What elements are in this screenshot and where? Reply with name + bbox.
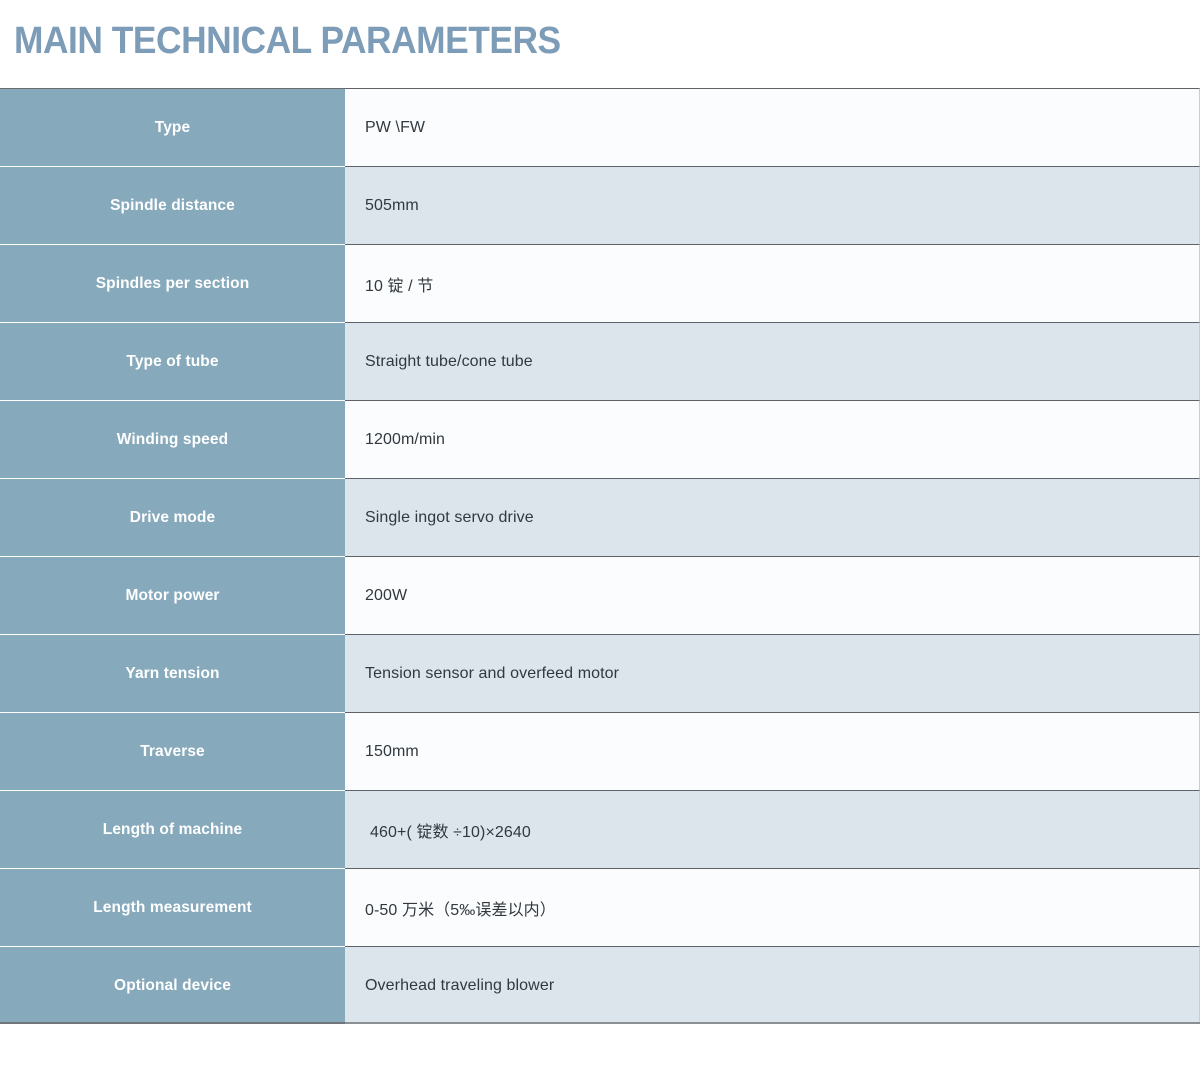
parameter-label-cell: Traverse (0, 712, 345, 790)
table-row: Spindles per section10 锭 / 节 (0, 244, 1200, 322)
parameter-label-cell: Length of machine (0, 790, 345, 868)
parameter-value-cell: 150mm (345, 712, 1200, 790)
table-row: Winding speed1200m/min (0, 400, 1200, 478)
parameter-value-cell: Single ingot servo drive (345, 478, 1200, 556)
parameter-value-cell: 10 锭 / 节 (345, 244, 1200, 322)
table-row: Traverse150mm (0, 712, 1200, 790)
parameter-value-cell: 460+( 锭数 ÷10)×2640 (345, 790, 1200, 868)
page-title: MAIN TECHNICAL PARAMETERS (14, 18, 561, 64)
parameter-value-cell: 505mm (345, 166, 1200, 244)
table-row: Drive modeSingle ingot servo drive (0, 478, 1200, 556)
table-row: Yarn tensionTension sensor and overfeed … (0, 634, 1200, 712)
parameter-label-cell: Motor power (0, 556, 345, 634)
table-row: Type of tubeStraight tube/cone tube (0, 322, 1200, 400)
parameter-label-cell: Drive mode (0, 478, 345, 556)
parameter-value-cell: 0-50 万米（5‰误差以内） (345, 868, 1200, 946)
parameter-label-cell: Winding speed (0, 400, 345, 478)
table-row: TypePW \FW (0, 88, 1200, 166)
parameter-value-cell: Overhead traveling blower (345, 946, 1200, 1024)
table-row: Motor power200W (0, 556, 1200, 634)
table-row: Optional deviceOverhead traveling blower (0, 946, 1200, 1024)
table-bottom-border-left (0, 1022, 345, 1024)
parameter-label-cell: Optional device (0, 946, 345, 1024)
parameter-label-cell: Yarn tension (0, 634, 345, 712)
parameter-label-cell: Type of tube (0, 322, 345, 400)
parameter-value-cell: 200W (345, 556, 1200, 634)
parameter-value-cell: Straight tube/cone tube (345, 322, 1200, 400)
parameter-label-cell: Spindles per section (0, 244, 345, 322)
technical-parameters-table: TypePW \FWSpindle distance505mmSpindles … (0, 88, 1200, 1024)
parameter-value-cell: PW \FW (345, 88, 1200, 166)
parameter-label-cell: Type (0, 88, 345, 166)
parameter-label-cell: Spindle distance (0, 166, 345, 244)
parameter-value-cell: 1200m/min (345, 400, 1200, 478)
parameter-label-cell: Length measurement (0, 868, 345, 946)
parameters-page: MAIN TECHNICAL PARAMETERS TypePW \FWSpin… (0, 0, 1200, 1066)
parameter-value-cell: Tension sensor and overfeed motor (345, 634, 1200, 712)
table-row: Spindle distance505mm (0, 166, 1200, 244)
table-row: Length measurement0-50 万米（5‰误差以内） (0, 868, 1200, 946)
table-row: Length of machine460+( 锭数 ÷10)×2640 (0, 790, 1200, 868)
